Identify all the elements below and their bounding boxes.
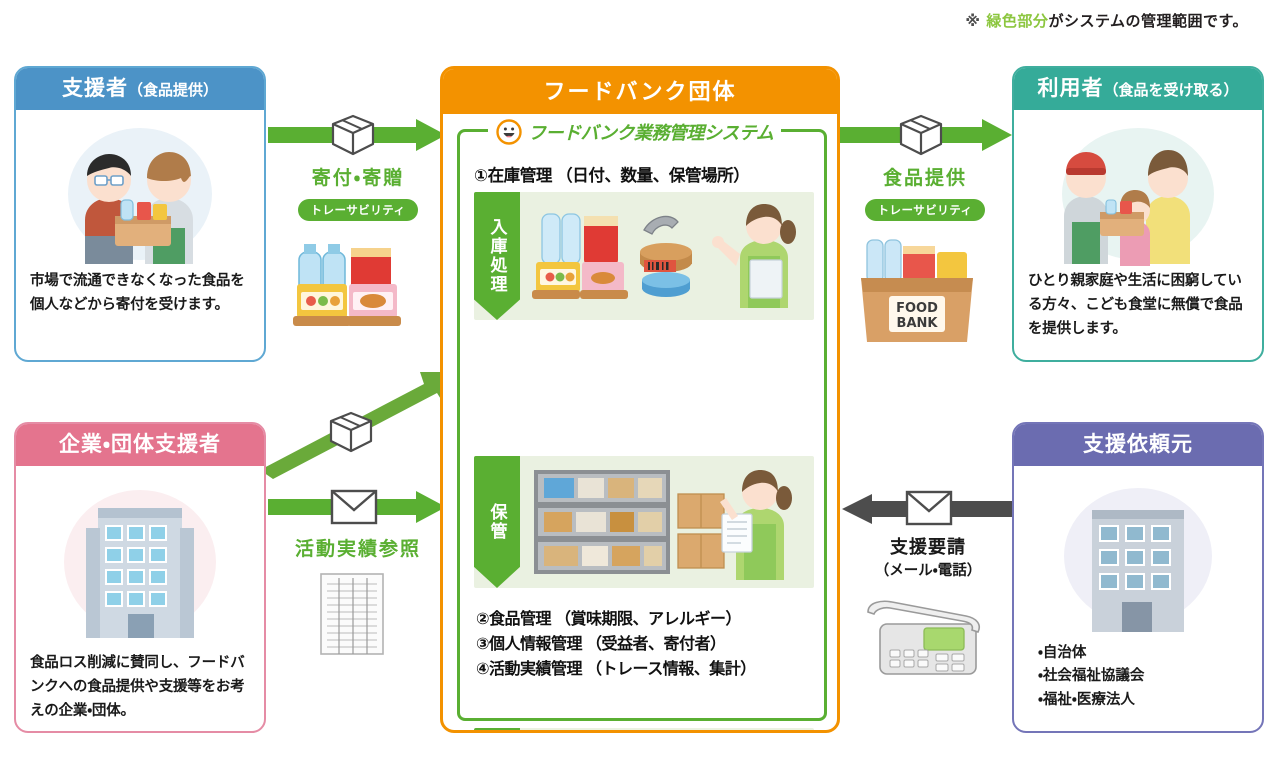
note-mark: ※ — [965, 13, 980, 30]
system-boundary-box: フードバンク業務管理システム ①在庫管理 （日付、数量、保管場所） 入庫処理 — [457, 129, 827, 721]
smiley-logo-icon — [496, 119, 522, 145]
card-supporter-description: 市場で流通できなくなった食品を個人などから寄付を受けます。 — [30, 270, 254, 318]
center-panel-food-bank[interactable]: フードバンク団体 フードバンク業務管理システム ①在庫管理 （日付、数量、保管場… — [440, 66, 840, 733]
system-function-item: ③個人情報管理 （受益者、寄付者） — [476, 633, 814, 658]
food-bank-box-staff-illustration: FOOD BANK — [526, 732, 812, 733]
donation-arrow-label: 寄付・寄贈 — [268, 163, 448, 190]
card-user-body: ひとり親家庭や生活に困窮している方々、こども食堂に無償で食品を提供します。 — [1014, 110, 1262, 360]
box-icon — [898, 113, 944, 157]
card-requester-body: ・自治体 ・社会福祉協議会 ・福祉・医療法人 — [1014, 466, 1262, 731]
card-supporter[interactable]: 支援者（食品提供） — [14, 66, 266, 362]
card-supporter-subtitle: （食品提供） — [128, 82, 218, 99]
report-document-illustration — [315, 570, 395, 660]
activity-reference-label: 活動実績参照 — [258, 534, 458, 561]
card-supporter-header: 支援者（食品提供） — [16, 68, 264, 110]
requester-item: ・自治体 — [1038, 642, 1144, 665]
step-label-storage: 保管 — [474, 456, 520, 588]
step-label-inbound: 入庫処理 — [474, 192, 520, 320]
card-user-title: 利用者 — [1037, 77, 1103, 100]
step-label-outbound: 出庫処理 — [474, 728, 520, 733]
donation-traceability-badge: トレーサビリティ — [298, 199, 417, 221]
card-supporter-body: 市場で流通できなくなった食品を個人などから寄付を受けます。 — [16, 110, 264, 360]
note-rest: がシステムの管理範囲です。 — [1048, 13, 1248, 30]
card-user[interactable]: 利用者（食品を受け取る） — [1012, 66, 1264, 362]
system-function-list: ②食品管理 （賞味期限、アレルギー） ③個人情報管理 （受益者、寄付者） ④活動… — [476, 608, 814, 682]
donation-traceability-badge-wrap: トレーサビリティ — [268, 199, 448, 221]
requester-item: ・福祉・医療法人 — [1038, 689, 1144, 712]
system-function-item: ④活動実績管理 （トレース情報、集計） — [476, 658, 814, 683]
card-requester-items: ・自治体 ・社会福祉協議会 ・福祉・医療法人 — [1038, 642, 1144, 712]
center-panel-header: フードバンク団体 — [443, 69, 837, 114]
donor-people-illustration — [45, 124, 235, 272]
box-icon — [328, 410, 374, 454]
food-supply-traceability-badge: トレーサビリティ — [865, 199, 984, 221]
inventory-management-title: ①在庫管理 （日付、数量、保管場所） — [474, 162, 749, 186]
svg-text:FOOD: FOOD — [896, 301, 938, 316]
food-supply-label: 食品提供 — [836, 163, 1014, 190]
card-user-header: 利用者（食品を受け取る） — [1014, 68, 1262, 110]
system-scope-note: ※緑色部分がシステムの管理範囲です。 — [965, 10, 1248, 31]
support-request-sublabel: （メール・電話） — [840, 559, 1016, 580]
card-company-body: 食品ロス削減に賛同し、フードバンクへの食品提供や支援等をお考えの企業・団体。 — [16, 466, 264, 731]
office-building-illustration — [40, 480, 240, 648]
card-company-description: 食品ロス削減に賛同し、フードバンクへの食品提供や支援等をお考えの企業・団体。 — [30, 652, 254, 724]
svg-text:BANK: BANK — [897, 316, 939, 331]
system-function-item: ②食品管理 （賞味期限、アレルギー） — [476, 608, 814, 633]
food-bank-box-illustration: FOOD BANK — [855, 230, 995, 350]
step-row-storage: 保管 — [474, 456, 814, 588]
card-requester-header: 支援依頼元 — [1014, 424, 1262, 466]
card-requester-title: 支援依頼元 — [1083, 433, 1193, 456]
card-supporter-title: 支援者 — [62, 77, 128, 100]
requester-item: ・社会福祉協議会 — [1038, 665, 1144, 688]
public-building-illustration — [1038, 480, 1238, 632]
envelope-icon — [905, 488, 953, 528]
system-title-text: フードバンク業務管理システム — [528, 119, 773, 145]
support-request-label: 支援要請 — [840, 533, 1016, 559]
envelope-icon — [330, 488, 378, 526]
step-row-inbound: 入庫処理 — [474, 192, 814, 320]
card-user-subtitle: （食品を受け取る） — [1103, 82, 1238, 99]
diagram-canvas: ※緑色部分がシステムの管理範囲です。 寄付・寄贈 トレーサビリティ — [0, 0, 1280, 759]
card-requester[interactable]: 支援依頼元 ・自治体 ・社会福祉協議会 ・福祉・医療法人 — [1012, 422, 1264, 733]
card-company-header: 企業・団体支援者 — [16, 424, 264, 466]
box-icon — [330, 113, 376, 157]
step-row-outbound: 出庫処理 FOOD BANK — [474, 728, 814, 733]
note-highlight: 緑色部分 — [986, 13, 1048, 30]
card-company[interactable]: 企業・団体支援者 食品ロス削減に賛同し、フードバンクへの食品提供や支援等をお考え… — [14, 422, 266, 733]
food-supply-badge-wrap: トレーサビリティ — [836, 199, 1014, 221]
warehouse-shelf-staff-illustration — [526, 460, 812, 584]
card-company-title: 企業・団体支援者 — [59, 433, 221, 456]
stacked-food-illustration — [293, 222, 413, 332]
desk-telephone-illustration — [862, 590, 994, 686]
bottles-cans-staff-illustration — [526, 196, 812, 316]
system-title: フードバンク業務管理システム — [488, 118, 781, 146]
family-receiving-food-illustration — [1038, 124, 1238, 272]
card-user-description: ひとり親家庭や生活に困窮している方々、こども食堂に無償で食品を提供します。 — [1028, 270, 1252, 342]
